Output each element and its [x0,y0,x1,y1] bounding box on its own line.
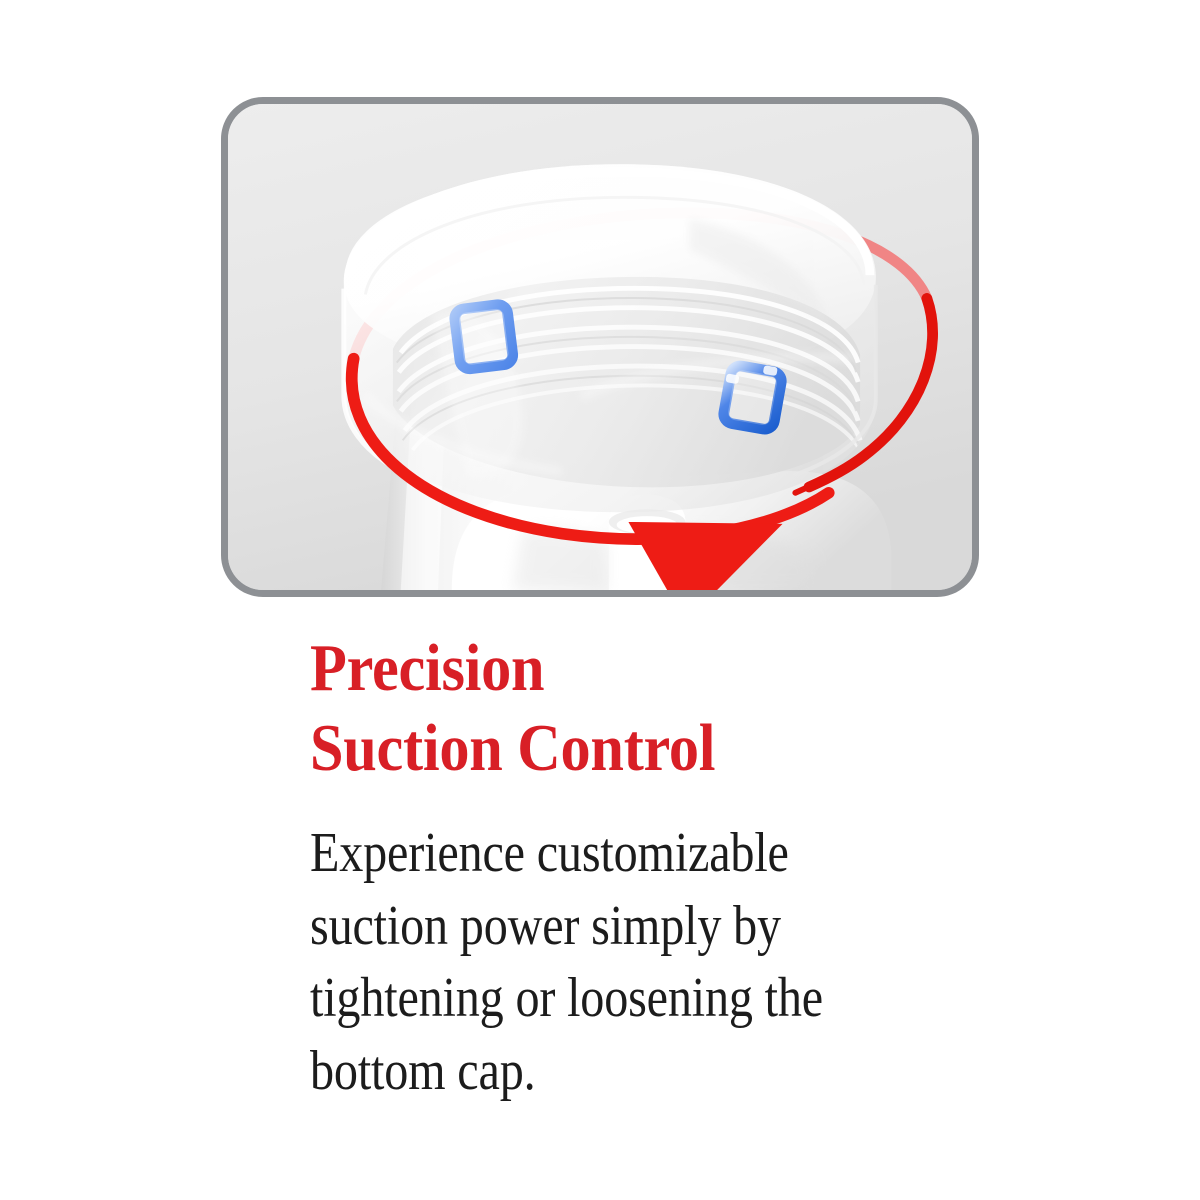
feature-text-block: Precision Suction Control Experience cus… [310,628,990,1108]
page-title: Precision Suction Control [310,628,922,789]
product-illustration [228,104,972,590]
feature-card: Precision Suction Control Experience cus… [0,0,1200,1200]
alignment-marker-closed [718,359,783,431]
feature-description: Experience customizable suction power si… [310,789,895,1108]
product-image-panel [221,97,979,597]
rotating-cap [344,164,876,512]
alignment-marker-open [454,304,514,370]
